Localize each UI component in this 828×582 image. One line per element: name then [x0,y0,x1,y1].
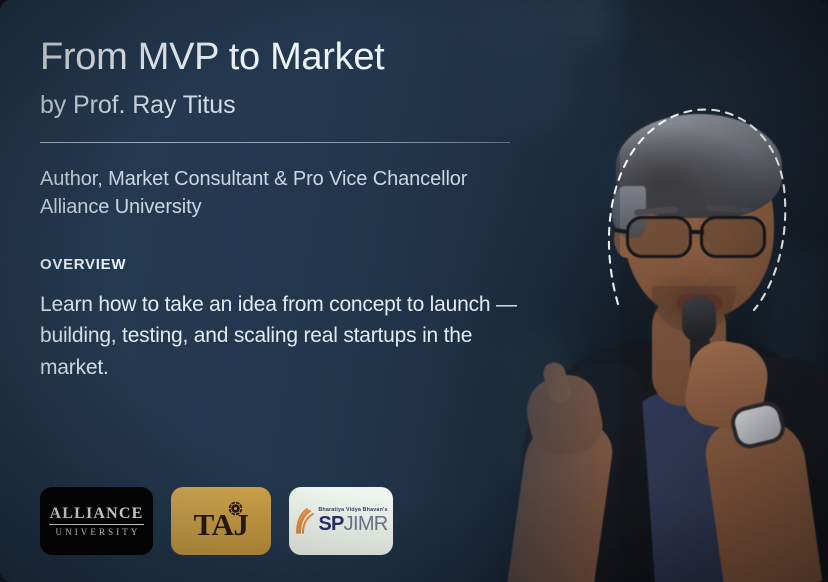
microphone-icon [682,296,716,342]
bhavans-flame-icon [294,508,314,534]
spjimr-tagline: Bharatiya Vidya Bhavan's [318,508,387,513]
logo-taj[interactable]: TAJ [171,487,271,555]
alliance-subtitle: UNIVERSITY [49,528,143,537]
overview-label: OVERVIEW [40,256,520,273]
partner-logo-row: ALLIANCE UNIVERSITY TAJ [40,487,393,555]
alliance-name: ALLIANCE [49,506,143,525]
speaker-role: Author, Market Consultant & Pro Vice Cha… [40,165,520,222]
page-title: From MVP to Market [40,36,520,79]
logo-alliance-university[interactable]: ALLIANCE UNIVERSITY [40,487,153,555]
logo-spjimr[interactable]: Bharatiya Vidya Bhavan's SPJIMR [289,487,393,555]
spjimr-name: SPJIMR [318,514,387,534]
divider [40,142,510,144]
spjimr-wordmark: Bharatiya Vidya Bhavan's SPJIMR [318,508,387,535]
overview-body: Learn how to take an idea from concept t… [40,289,518,384]
slide-byline: by Prof. Ray Titus [40,91,520,120]
spjimr-name-bold: SP [318,513,343,535]
slide-content: From MVP to Market by Prof. Ray Titus Au… [40,36,520,383]
starburst-medallion-icon [227,500,244,517]
eyeglass-lens-left [626,216,692,258]
eyeglass-lens-right [700,216,766,258]
eyeglass-bridge [690,230,704,234]
spjimr-name-light: JIMR [344,513,388,535]
presentation-slide: From MVP to Market by Prof. Ray Titus Au… [0,0,828,582]
alliance-wordmark: ALLIANCE UNIVERSITY [49,506,143,537]
eyeglasses-icon [620,216,784,262]
